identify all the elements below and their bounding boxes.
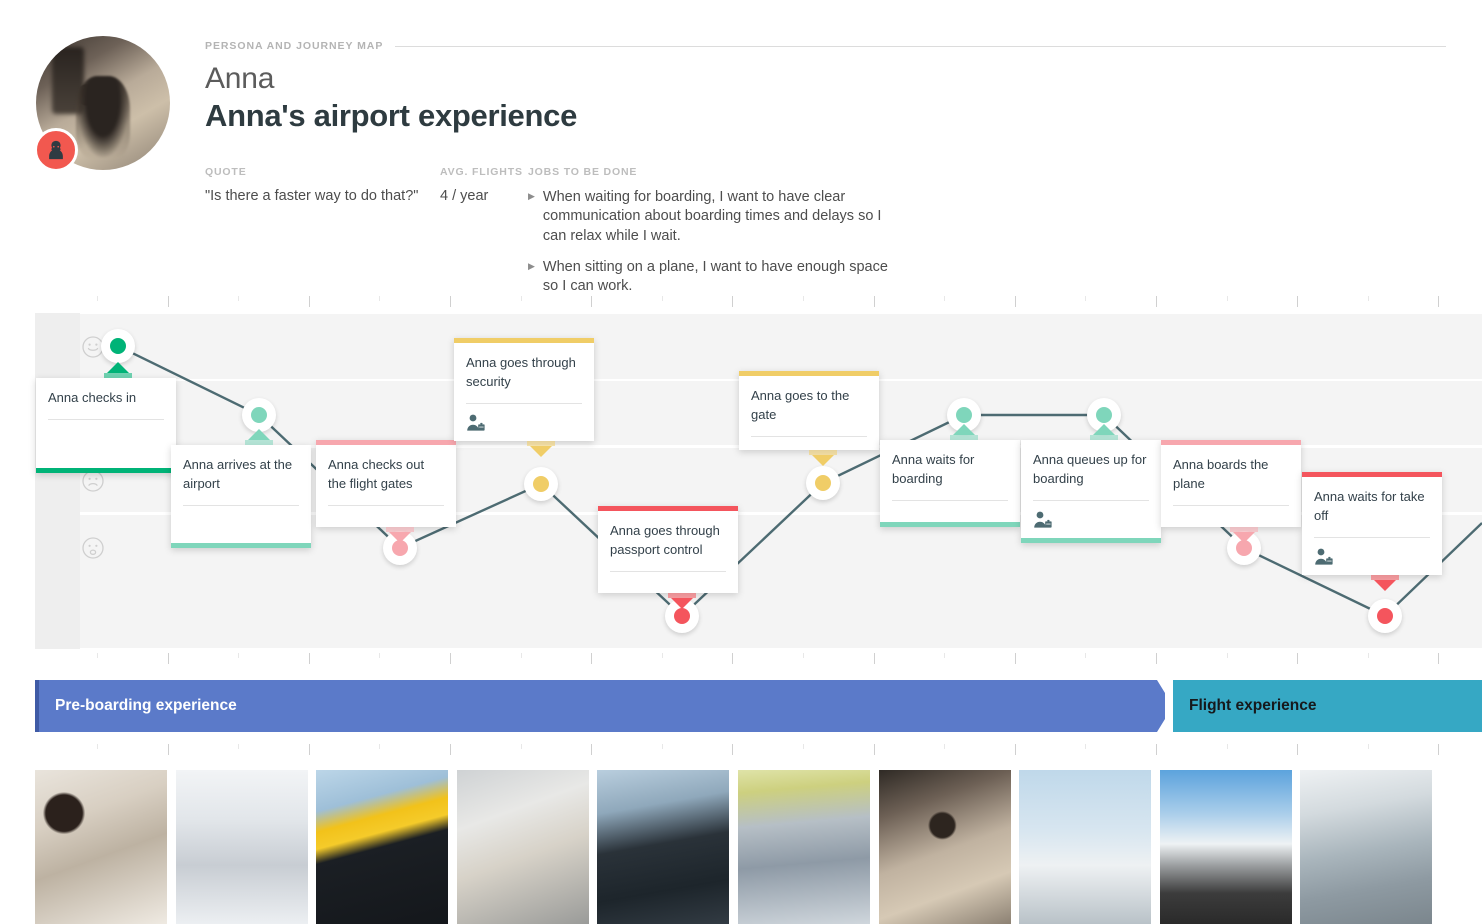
flights-block: AVG. FLIGHTS 4 / year bbox=[440, 166, 528, 308]
ruler-tick bbox=[1438, 744, 1439, 755]
journey-card-arrives-airport[interactable]: Anna arrives at the airport bbox=[171, 445, 311, 548]
journey-card-boards-plane[interactable]: Anna boards the plane bbox=[1161, 440, 1301, 527]
card-title: Anna arrives at the airport bbox=[183, 456, 299, 494]
photo-terminal-crowd bbox=[176, 770, 308, 924]
bullet-triangle-icon: ▶ bbox=[528, 188, 535, 246]
ruler-tick bbox=[379, 744, 380, 749]
card-pointer-arrow bbox=[1233, 532, 1255, 543]
journey-card-security[interactable]: Anna goes through security bbox=[454, 338, 594, 441]
ruler-tick bbox=[591, 296, 592, 307]
journey-node-dot bbox=[251, 407, 267, 423]
ruler-tick bbox=[521, 744, 522, 749]
photo-gate-signage bbox=[738, 770, 870, 924]
ruler-tick bbox=[168, 296, 169, 307]
journey-card-check-in[interactable]: Anna checks in bbox=[36, 378, 176, 473]
card-pointer-arrow bbox=[530, 446, 552, 457]
eyebrow-label: PERSONA AND JOURNEY MAP bbox=[205, 40, 383, 52]
ruler-tick bbox=[97, 296, 98, 301]
journey-node-dot bbox=[533, 476, 549, 492]
ruler-middle bbox=[35, 653, 1482, 665]
photo-queue-jetway bbox=[1019, 770, 1151, 924]
card-pointer-arrow bbox=[389, 532, 411, 543]
journey-card-goes-to-gate[interactable]: Anna goes to the gate bbox=[739, 371, 879, 450]
ruler-top bbox=[35, 296, 1482, 308]
phase-bar-flight[interactable]: Flight experience bbox=[1173, 680, 1482, 732]
card-divider bbox=[466, 403, 582, 404]
jobs-block: JOBS TO BE DONE ▶ When waiting for board… bbox=[528, 166, 898, 308]
card-body: Anna goes to the gate bbox=[739, 376, 879, 450]
card-pointer-arrow bbox=[248, 429, 270, 440]
journey-node-dot bbox=[1096, 407, 1112, 423]
breadcrumb: PERSONA AND JOURNEY MAP bbox=[205, 40, 1446, 52]
persona-name: Anna bbox=[205, 62, 1446, 96]
photo-strip bbox=[35, 770, 1482, 924]
jobs-label: JOBS TO BE DONE bbox=[528, 166, 898, 178]
ruler-tick bbox=[309, 744, 310, 755]
ruler-tick bbox=[379, 653, 380, 658]
ruler-tick bbox=[944, 296, 945, 301]
ruler-tick bbox=[1368, 296, 1369, 301]
ruler-tick bbox=[238, 296, 239, 301]
journey-card-queues-boarding[interactable]: Anna queues up for boarding bbox=[1021, 440, 1161, 543]
ruler-tick bbox=[1438, 296, 1439, 307]
card-pointer-arrow bbox=[107, 362, 129, 373]
ruler-tick bbox=[1015, 296, 1016, 307]
emotion-row-happy bbox=[35, 313, 1482, 380]
ruler-tick bbox=[662, 744, 663, 749]
persona-meta: QUOTE "Is there a faster way to do that?… bbox=[205, 166, 898, 308]
photo-departures-board bbox=[316, 770, 448, 924]
page-title: Anna's airport experience bbox=[205, 98, 1446, 134]
card-title: Anna goes through passport control bbox=[610, 522, 726, 560]
journey-node-goes-to-gate[interactable] bbox=[806, 466, 840, 500]
quote-value: "Is there a faster way to do that?" bbox=[205, 188, 440, 204]
persona-avatar bbox=[36, 36, 170, 170]
ruler-tick bbox=[732, 744, 733, 755]
ruler-tick bbox=[944, 744, 945, 749]
ruler-tick bbox=[1156, 653, 1157, 664]
ruler-tick bbox=[1085, 744, 1086, 749]
ruler-tick bbox=[168, 744, 169, 755]
journey-node-dot bbox=[815, 475, 831, 491]
card-title: Anna checks out the flight gates bbox=[328, 456, 444, 494]
photo-security-tray bbox=[457, 770, 589, 924]
ruler-tick bbox=[450, 296, 451, 307]
journey-map: Anna checks inAnna arrives at the airpor… bbox=[35, 313, 1482, 649]
card-title: Anna waits for take off bbox=[1314, 488, 1430, 526]
persona-woman-icon bbox=[34, 128, 78, 172]
ruler-tick bbox=[1015, 653, 1016, 664]
card-body: Anna waits for take off bbox=[1302, 477, 1442, 575]
card-title: Anna goes to the gate bbox=[751, 387, 867, 425]
person-with-bag-icon bbox=[1033, 511, 1149, 528]
journey-node-dot bbox=[674, 608, 690, 624]
job-item: ▶ When waiting for boarding, I want to h… bbox=[528, 188, 898, 246]
card-pointer-stub bbox=[950, 435, 978, 440]
card-pointer-arrow bbox=[1374, 580, 1396, 591]
journey-node-dot bbox=[1377, 608, 1393, 624]
photo-passport-desk bbox=[597, 770, 729, 924]
card-body: Anna arrives at the airport bbox=[171, 445, 311, 543]
photo-lounge-waiting bbox=[879, 770, 1011, 924]
card-pointer-arrow bbox=[671, 598, 693, 609]
ruler-bottom bbox=[35, 744, 1482, 756]
journey-node-dot bbox=[956, 407, 972, 423]
ruler-tick bbox=[309, 653, 310, 664]
journey-node-check-in[interactable] bbox=[101, 329, 135, 363]
journey-card-passport-control[interactable]: Anna goes through passport control bbox=[598, 506, 738, 593]
card-body: Anna checks in bbox=[36, 378, 176, 468]
ruler-tick bbox=[450, 744, 451, 755]
journey-node-waits-take-off[interactable] bbox=[1368, 599, 1402, 633]
journey-node-security[interactable] bbox=[524, 467, 558, 501]
card-title: Anna queues up for boarding bbox=[1033, 451, 1149, 489]
ruler-tick bbox=[944, 653, 945, 658]
card-pointer-stub bbox=[245, 440, 273, 445]
journey-card-waits-take-off[interactable]: Anna waits for take off bbox=[1302, 472, 1442, 575]
job-item: ▶ When sitting on a plane, I want to hav… bbox=[528, 258, 898, 297]
ruler-tick bbox=[97, 653, 98, 658]
person-with-bag-icon bbox=[1314, 548, 1430, 565]
ruler-tick bbox=[803, 653, 804, 658]
ruler-tick bbox=[309, 296, 310, 307]
header: PERSONA AND JOURNEY MAP Anna Anna's airp… bbox=[205, 40, 1446, 134]
phase-label: Flight experience bbox=[1173, 697, 1316, 715]
card-pointer-stub bbox=[1090, 435, 1118, 440]
ruler-tick bbox=[1368, 653, 1369, 658]
card-pointer-stub bbox=[104, 373, 132, 378]
ruler-tick bbox=[874, 744, 875, 755]
ruler-tick bbox=[803, 296, 804, 301]
card-divider bbox=[1314, 537, 1430, 538]
card-accent-bar bbox=[1021, 538, 1161, 543]
ruler-tick bbox=[874, 653, 875, 664]
job-text: When sitting on a plane, I want to have … bbox=[543, 258, 898, 297]
card-body: Anna queues up for boarding bbox=[1021, 440, 1161, 538]
job-text: When waiting for boarding, I want to hav… bbox=[543, 188, 898, 246]
ruler-tick bbox=[874, 296, 875, 307]
journey-node-arrives-airport[interactable] bbox=[242, 398, 276, 432]
ruler-tick bbox=[1297, 296, 1298, 307]
card-divider bbox=[1033, 500, 1149, 501]
ruler-tick bbox=[238, 653, 239, 658]
emotion-rail bbox=[35, 313, 80, 649]
card-body: Anna boards the plane bbox=[1161, 445, 1301, 527]
ruler-tick bbox=[803, 744, 804, 749]
card-accent-bar bbox=[880, 522, 1020, 527]
flights-label: AVG. FLIGHTS bbox=[440, 166, 528, 178]
card-title: Anna goes through security bbox=[466, 354, 582, 392]
ruler-tick bbox=[1156, 744, 1157, 755]
ruler-tick bbox=[732, 296, 733, 307]
card-body: Anna goes through passport control bbox=[598, 511, 738, 593]
ruler-tick bbox=[1085, 653, 1086, 658]
ruler-tick bbox=[1297, 653, 1298, 664]
ruler-tick bbox=[168, 653, 169, 664]
card-pointer-arrow bbox=[812, 455, 834, 466]
card-title: Anna checks in bbox=[48, 389, 164, 408]
ruler-tick bbox=[1227, 744, 1228, 749]
ruler-tick bbox=[591, 744, 592, 755]
card-accent-bar bbox=[36, 468, 176, 473]
ruler-tick bbox=[1438, 653, 1439, 664]
phase-bars: Pre-boarding experience Flight experienc… bbox=[35, 680, 1482, 732]
ruler-tick bbox=[521, 296, 522, 301]
ruler-tick bbox=[1015, 744, 1016, 755]
ruler-tick bbox=[732, 653, 733, 664]
bullet-triangle-icon: ▶ bbox=[528, 258, 535, 297]
card-pointer-arrow bbox=[1093, 424, 1115, 435]
ruler-tick bbox=[662, 296, 663, 301]
ruler-tick bbox=[591, 653, 592, 664]
card-title: Anna boards the plane bbox=[1173, 456, 1289, 494]
journey-card-waits-boarding[interactable]: Anna waits for boarding bbox=[880, 440, 1020, 527]
quote-block: QUOTE "Is there a faster way to do that?… bbox=[205, 166, 440, 308]
card-title: Anna waits for boarding bbox=[892, 451, 1008, 489]
ruler-tick bbox=[238, 744, 239, 749]
card-accent-bar bbox=[171, 543, 311, 548]
ruler-tick bbox=[1227, 296, 1228, 301]
ruler-tick bbox=[450, 653, 451, 664]
card-body: Anna checks out the flight gates bbox=[316, 445, 456, 527]
photo-check-in-desk bbox=[35, 770, 167, 924]
journey-node-dot bbox=[110, 338, 126, 354]
ruler-tick bbox=[97, 744, 98, 749]
ruler-tick bbox=[1085, 296, 1086, 301]
ruler-tick bbox=[1156, 296, 1157, 307]
ruler-tick bbox=[379, 296, 380, 301]
card-body: Anna goes through security bbox=[454, 343, 594, 441]
phase-bar-pre-boarding[interactable]: Pre-boarding experience bbox=[35, 680, 1165, 732]
photo-boarding-stairs bbox=[1160, 770, 1292, 924]
face-very-sad-icon bbox=[81, 536, 105, 560]
eyebrow-rule bbox=[395, 46, 1446, 47]
phase-label: Pre-boarding experience bbox=[39, 697, 237, 715]
person-with-bag-icon bbox=[466, 414, 582, 431]
ruler-tick bbox=[662, 653, 663, 658]
card-body: Anna waits for boarding bbox=[880, 440, 1020, 522]
flights-value: 4 / year bbox=[440, 188, 528, 204]
quote-label: QUOTE bbox=[205, 166, 440, 178]
card-pointer-arrow bbox=[953, 424, 975, 435]
journey-card-checks-flight-gates[interactable]: Anna checks out the flight gates bbox=[316, 440, 456, 527]
photo-cabin-interior bbox=[1300, 770, 1432, 924]
ruler-tick bbox=[1227, 653, 1228, 658]
ruler-tick bbox=[1368, 744, 1369, 749]
ruler-tick bbox=[1297, 744, 1298, 755]
ruler-tick bbox=[521, 653, 522, 658]
